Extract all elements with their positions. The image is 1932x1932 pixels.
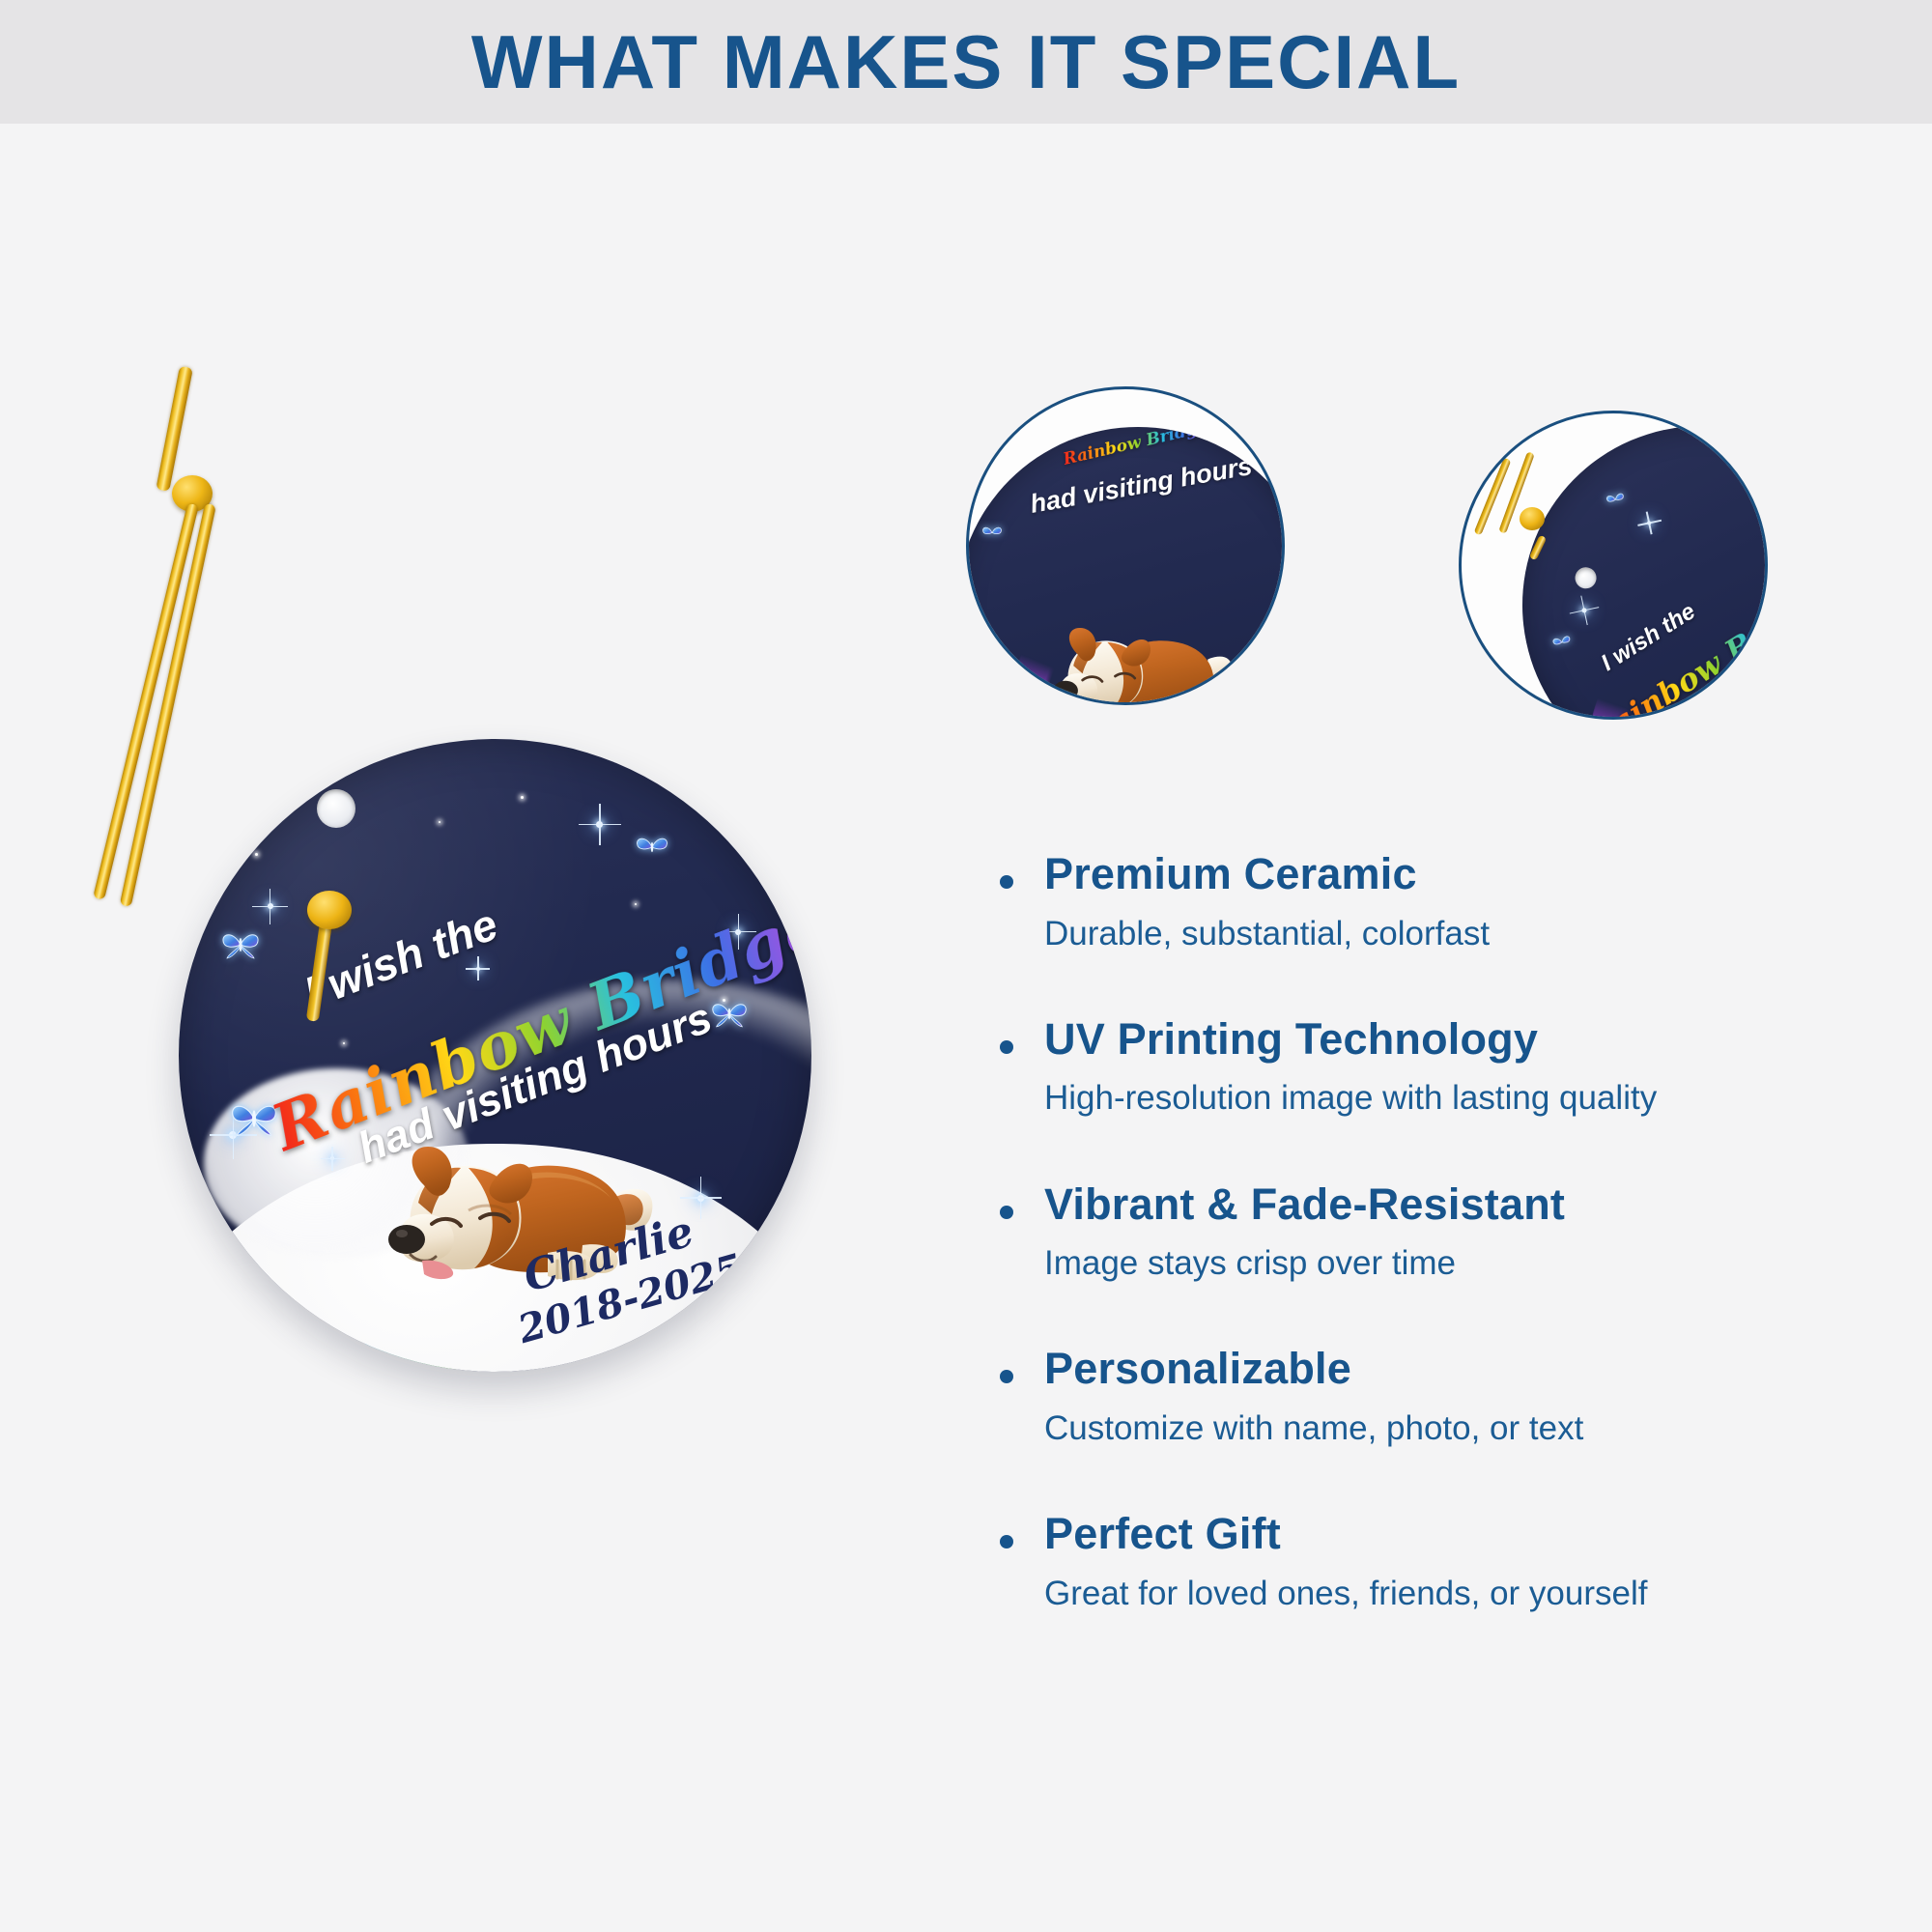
- star-icon: [476, 967, 480, 971]
- cord-strand-left: [93, 503, 199, 900]
- butterfly-icon: [1605, 490, 1627, 509]
- feature-item: UV Printing Technology High-resolution i…: [1000, 1015, 1913, 1119]
- detail-circle-cord: I wish the Rainbow Bridge had visiting h…: [1459, 411, 1768, 720]
- feature-description: Great for loved ones, friends, or yourse…: [1044, 1575, 1913, 1613]
- star-icon: [697, 1195, 704, 1202]
- infographic-page: WHAT MAKES IT SPECIAL: [0, 0, 1932, 1932]
- feature-title: UV Printing Technology: [1044, 1015, 1913, 1064]
- detail1-visible-text: had visiting hours: [1028, 451, 1254, 520]
- detail2-cord-knot: [1520, 507, 1545, 530]
- butterfly-icon: [981, 525, 1003, 541]
- star-icon: [1647, 520, 1652, 525]
- feature-title: Personalizable: [1044, 1345, 1913, 1393]
- feature-description: Durable, substantial, colorfast: [1044, 915, 1913, 953]
- bullet-icon: [1000, 1370, 1013, 1383]
- feature-item: Personalizable Customize with name, phot…: [1000, 1345, 1913, 1448]
- feature-description: Image stays crisp over time: [1044, 1244, 1913, 1283]
- butterfly-icon: [220, 929, 261, 960]
- feature-title: Perfect Gift: [1044, 1510, 1913, 1558]
- butterfly-icon: [710, 999, 749, 1029]
- butterfly-icon: [1550, 633, 1573, 652]
- header-band: WHAT MAKES IT SPECIAL: [0, 0, 1932, 124]
- feature-item: Premium Ceramic Durable, substantial, co…: [1000, 850, 1913, 953]
- cord-knot-lower: [307, 891, 352, 929]
- feature-title: Vibrant & Fade-Resistant: [1044, 1180, 1913, 1229]
- star-icon: [268, 903, 273, 909]
- bullet-icon: [1000, 1535, 1013, 1548]
- feature-description: Customize with name, photo, or text: [1044, 1409, 1913, 1448]
- ornament-hanging-hole: [317, 789, 355, 828]
- detail-circle-artwork: Rainbow Bridge had visiting hours Charli…: [966, 386, 1285, 705]
- hero-product-image: I wish the Rainbow Bridge had visiting h…: [145, 357, 811, 1710]
- page-title: WHAT MAKES IT SPECIAL: [471, 24, 1461, 99]
- bullet-icon: [1000, 875, 1013, 889]
- bullet-icon: [1000, 1040, 1013, 1054]
- cord-segment-top: [156, 366, 193, 492]
- cord-strand-right: [120, 503, 216, 907]
- star-icon: [1581, 607, 1587, 612]
- detail1-puppy-illustration: [1039, 594, 1236, 705]
- feature-item: Perfect Gift Great for loved ones, frien…: [1000, 1510, 1913, 1613]
- feature-list: Premium Ceramic Durable, substantial, co…: [1000, 850, 1913, 1613]
- ornament-disc: I wish the Rainbow Bridge had visiting h…: [179, 739, 811, 1372]
- butterfly-icon: [635, 834, 669, 861]
- star-icon: [596, 821, 603, 828]
- feature-description: High-resolution image with lasting quali…: [1044, 1079, 1913, 1118]
- bullet-icon: [1000, 1206, 1013, 1219]
- feature-item: Vibrant & Fade-Resistant Image stays cri…: [1000, 1180, 1913, 1284]
- feature-title: Premium Ceramic: [1044, 850, 1913, 898]
